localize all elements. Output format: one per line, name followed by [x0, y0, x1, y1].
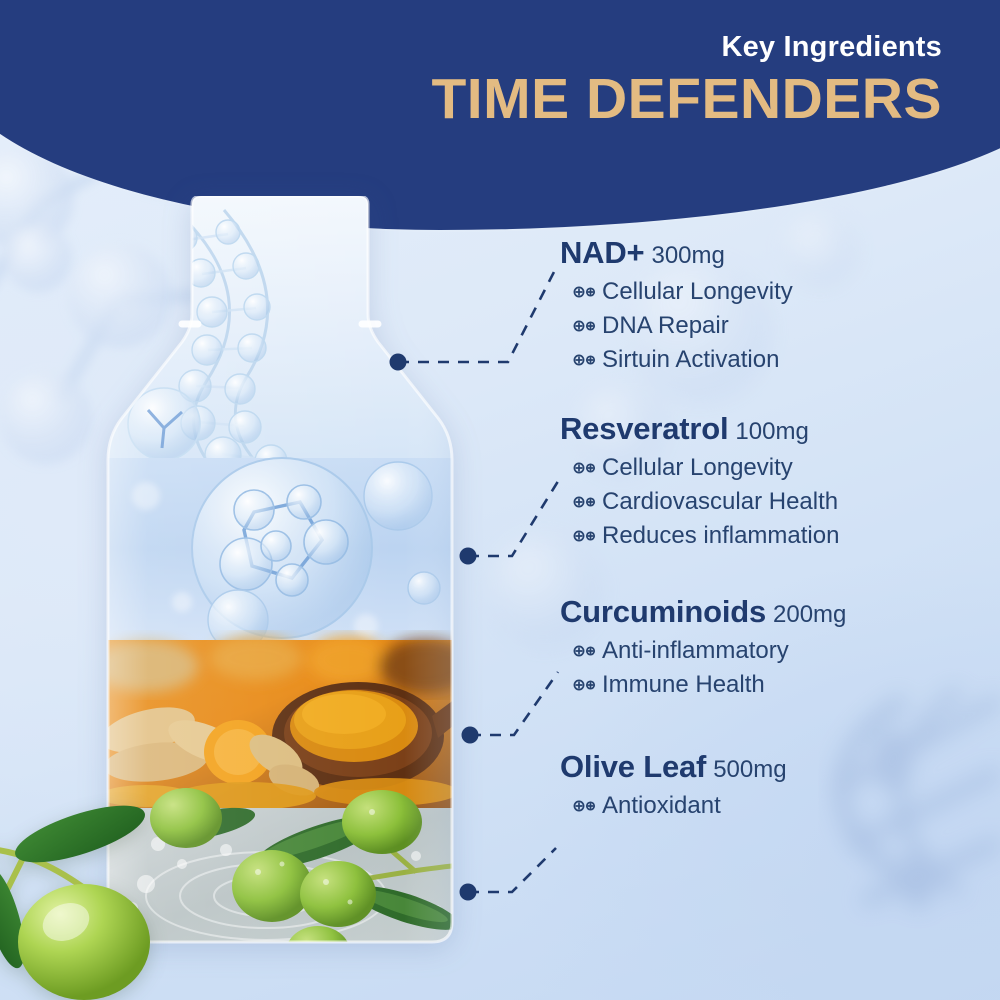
benefit-item: Anti-inflammatory: [572, 634, 990, 668]
benefit-label: Cellular Longevity: [602, 451, 793, 485]
ingredient-heading: Curcuminoids200mg: [560, 595, 990, 630]
ingredient-name: NAD+: [560, 235, 644, 270]
ingredient-name: Olive Leaf: [560, 749, 706, 784]
connector-oliveleaf: [468, 848, 556, 892]
benefit-item: Antioxidant: [572, 789, 990, 823]
ingredient-dose: 300mg: [651, 242, 724, 269]
benefit-item: Cardiovascular Health: [572, 485, 990, 519]
plus-circle-bullet-icon: [572, 493, 598, 511]
plus-circle-bullet-icon: [572, 642, 598, 660]
benefit-label: Immune Health: [602, 668, 765, 702]
ingredient-block-curcuminoids: Curcuminoids200mg Anti-inflammatory: [560, 595, 990, 702]
page-title: TIME DEFENDERS: [431, 70, 942, 130]
ingredient-name: Resveratrol: [560, 411, 728, 446]
benefit-label: Reduces inflammation: [602, 519, 839, 553]
benefit-label: Cellular Longevity: [602, 275, 793, 309]
connector-curcuminoids: [470, 672, 558, 735]
ingredient-heading: Resveratrol100mg: [560, 412, 990, 447]
ingredient-dose: 100mg: [735, 418, 808, 445]
benefit-label: DNA Repair: [602, 309, 729, 343]
ingredient-list: NAD+300mg Cellular Longevity: [560, 236, 990, 827]
plus-circle-bullet-icon: [572, 317, 598, 335]
connector-resveratrol: [468, 478, 560, 556]
plus-circle-bullet-icon: [572, 351, 598, 369]
benefit-label: Sirtuin Activation: [602, 343, 779, 377]
benefit-item: Reduces inflammation: [572, 519, 990, 553]
ingredients-infographic: Key Ingredients TIME DEFENDERS: [0, 0, 1000, 1000]
plus-circle-bullet-icon: [572, 676, 598, 694]
plus-circle-bullet-icon: [572, 527, 598, 545]
ingredient-dose: 200mg: [773, 601, 846, 628]
ingredient-block-resveratrol: Resveratrol100mg Cellular Longevity: [560, 412, 990, 553]
plus-circle-bullet-icon: [572, 797, 598, 815]
benefit-label: Cardiovascular Health: [602, 485, 838, 519]
benefit-item: DNA Repair: [572, 309, 990, 343]
plus-circle-bullet-icon: [572, 283, 598, 301]
benefit-label: Antioxidant: [602, 789, 721, 823]
ingredient-block-nad: NAD+300mg Cellular Longevity: [560, 236, 990, 377]
kicker-label: Key Ingredients: [431, 32, 942, 64]
ingredient-block-oliveleaf: Olive Leaf500mg Antioxidant: [560, 750, 990, 823]
plus-circle-bullet-icon: [572, 459, 598, 477]
header-text-group: Key Ingredients TIME DEFENDERS: [431, 32, 942, 130]
benefit-item: Cellular Longevity: [572, 451, 990, 485]
ingredient-name: Curcuminoids: [560, 594, 766, 629]
ingredient-heading: NAD+300mg: [560, 236, 990, 271]
ingredient-dose: 500mg: [713, 756, 786, 783]
product-sachet: [86, 196, 474, 956]
ingredient-heading: Olive Leaf500mg: [560, 750, 990, 785]
benefit-item: Cellular Longevity: [572, 275, 990, 309]
benefit-label: Anti-inflammatory: [602, 634, 789, 668]
benefit-item: Immune Health: [572, 668, 990, 702]
benefit-item: Sirtuin Activation: [572, 343, 990, 377]
